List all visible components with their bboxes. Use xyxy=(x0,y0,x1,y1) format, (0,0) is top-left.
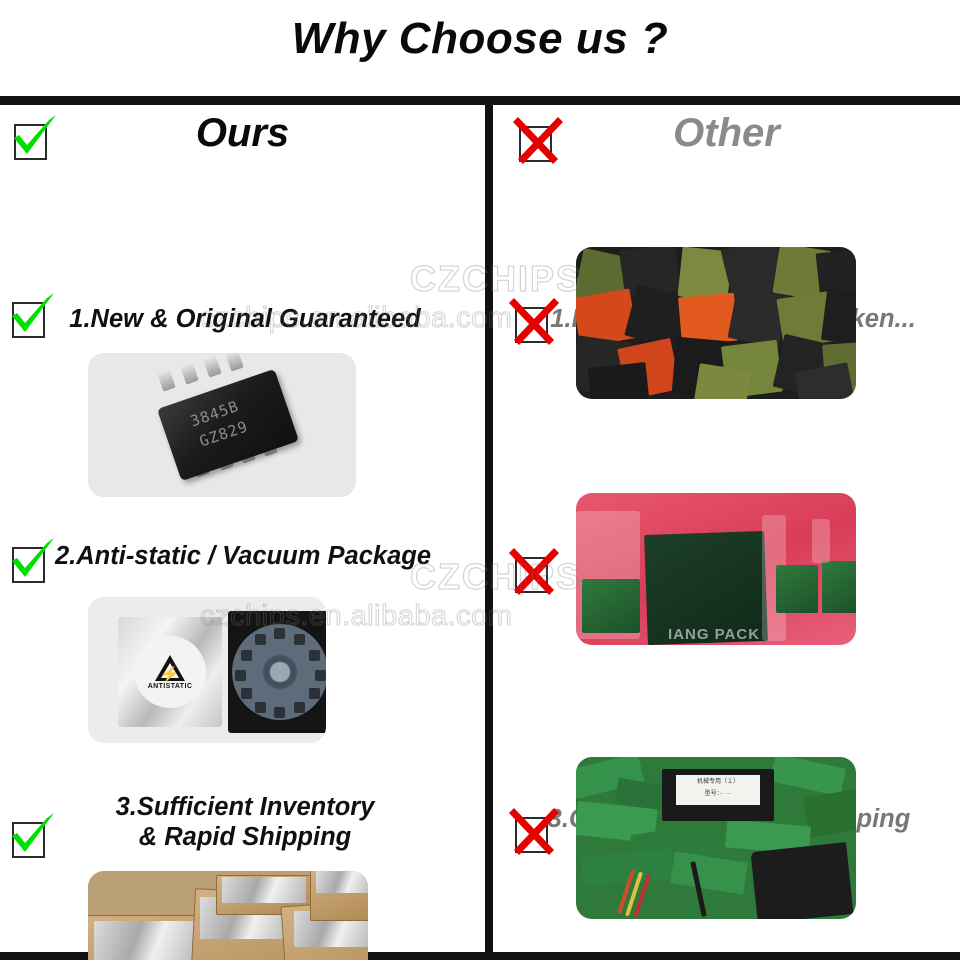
check-glyph xyxy=(2,287,60,345)
check-mark-icon xyxy=(6,815,52,861)
antistatic-bag: ⚡ ANTISTATIC xyxy=(118,617,222,727)
page-title: Why Choose us ? xyxy=(0,14,960,64)
photo-watermark: IANG PACK xyxy=(668,626,760,643)
antistatic-label: ⚡ ANTISTATIC xyxy=(134,636,206,708)
column-other: Other 1.Fake, Refurbished, Broken... xyxy=(493,105,960,952)
cross-glyph xyxy=(505,802,563,860)
plastic-bag-photo-stage: IANG PACK xyxy=(576,493,856,645)
ours-row3-caption-line1: 3.Sufficient Inventory xyxy=(20,793,470,823)
module-label-line1: 机械专用（１） xyxy=(676,778,760,787)
dark-device xyxy=(750,842,853,919)
vertical-column-divider xyxy=(485,105,493,952)
why-choose-us-infographic: Why Choose us ? Ours 1.New & Original Gu… xyxy=(0,0,960,960)
chip-photo-stage: 3845B GZ829 xyxy=(88,353,356,497)
module-label-line2: 型号：·· ··· xyxy=(676,790,760,799)
scrap-chips-photo-stage xyxy=(576,247,856,399)
ours-row2-caption: 2.Anti-static / Vacuum Package xyxy=(4,542,482,572)
ours-row3-photo xyxy=(88,871,368,960)
check-glyph xyxy=(2,532,60,590)
header-divider-line xyxy=(0,96,960,105)
other-row3-photo: 机械专用（１） 型号：·· ··· xyxy=(576,757,856,919)
check-mark-icon xyxy=(6,295,52,341)
hazard-triangle-icon: ⚡ xyxy=(155,655,185,681)
lightning-bolt-icon: ⚡ xyxy=(161,667,180,682)
tape-reel-box xyxy=(228,611,326,733)
ours-row2-photo: ⚡ ANTISTATIC xyxy=(88,597,326,743)
cross-mark-icon xyxy=(509,810,555,856)
cross-mark-icon xyxy=(509,300,555,346)
check-glyph xyxy=(2,807,60,865)
ours-row3-caption: 3.Sufficient Inventory & Rapid Shipping xyxy=(20,793,470,852)
ours-row1-photo: 3845B GZ829 xyxy=(88,353,356,497)
antistatic-label-text: ANTISTATIC xyxy=(148,683,193,690)
other-row1-photo xyxy=(576,247,856,399)
column-heading-ours: Ours xyxy=(0,111,485,156)
tape-reel xyxy=(232,624,326,720)
ours-row3-caption-line2: & Rapid Shipping xyxy=(20,823,470,853)
check-mark-icon xyxy=(6,540,52,586)
column-ours: Ours 1.New & Original Guaranteed 3845B xyxy=(0,105,485,952)
cross-glyph xyxy=(505,292,563,350)
scrap-boards-photo-stage: 机械专用（１） 型号：·· ··· xyxy=(576,757,856,919)
other-row2-photo: IANG PACK xyxy=(576,493,856,645)
black-module: 机械专用（１） 型号：·· ··· xyxy=(662,769,774,821)
cross-glyph xyxy=(505,542,563,600)
module-label: 机械专用（１） 型号：·· ··· xyxy=(676,775,760,805)
chip-body: 3845B GZ829 xyxy=(157,369,299,481)
antistatic-photo-stage: ⚡ ANTISTATIC xyxy=(88,597,326,743)
column-heading-other: Other xyxy=(493,111,960,156)
cartons-photo-stage xyxy=(88,871,368,960)
ours-row1-caption: 1.New & Original Guaranteed xyxy=(10,305,480,335)
cross-mark-icon xyxy=(509,550,555,596)
